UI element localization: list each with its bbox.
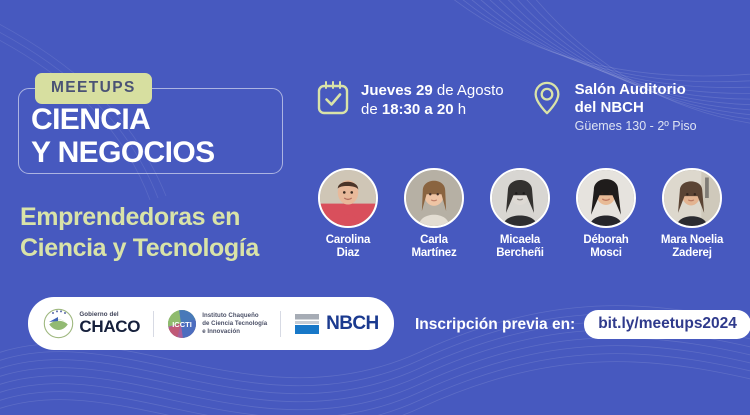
speaker-name-line-2: Martínez — [396, 247, 472, 260]
calendar-check-icon — [316, 80, 350, 116]
speaker-card: Déborah Mosci — [568, 168, 644, 260]
iccti-logo-text: Instituto Chaqueño de Ciencia Tecnología… — [202, 312, 267, 336]
speaker-name-line-2: Mosci — [568, 247, 644, 260]
nbch-emblem-icon — [294, 312, 321, 336]
speaker-name-line-2: Zaderej — [654, 247, 730, 260]
speaker-name: Carla Martínez — [396, 234, 472, 260]
event-date-line: Jueves 29 de Agosto — [361, 81, 504, 100]
logo-nbch: NBCH — [294, 312, 379, 336]
speakers-row: Carolina Diaz Carla Martínez — [310, 168, 730, 260]
event-time-bold: 18:30 a 20 — [382, 101, 454, 118]
event-time-suffix: h — [454, 101, 467, 118]
speaker-name: Micaela Bercheñi — [482, 234, 558, 260]
flyer-canvas: MEETUPS CIENCIA Y NEGOCIOS Emprendedoras… — [0, 0, 750, 415]
svg-text:ICCTI: ICCTI — [172, 320, 192, 329]
avatar — [318, 168, 378, 228]
subtitle: Emprendedoras en Ciencia y Tecnología — [20, 202, 259, 264]
meetups-badge: MEETUPS — [35, 73, 152, 104]
iccti-emblem-icon: ICCTI — [167, 309, 197, 339]
page-title: CIENCIA Y NEGOCIOS — [31, 103, 215, 169]
event-date-text: Jueves 29 de Agosto de 18:30 a 20 h — [361, 80, 504, 119]
logo-gobierno-chaco: Gobierno del CHACO — [43, 308, 140, 339]
event-date-bold: Jueves 29 — [361, 82, 433, 99]
signup-url-pill[interactable]: bit.ly/meetups2024 — [584, 310, 750, 339]
event-location-text: Salón Auditorio del NBCH Güemes 130 - 2º… — [575, 80, 697, 135]
chaco-emblem-icon — [43, 308, 74, 339]
iccti-line-3: e Innovación — [202, 328, 267, 336]
event-date-rest: de Agosto — [433, 82, 504, 99]
nbch-logo-text: NBCH — [326, 313, 379, 335]
title-line-2: Y NEGOCIOS — [31, 136, 215, 169]
speaker-card: Micaela Bercheñi — [482, 168, 558, 260]
avatar — [576, 168, 636, 228]
speaker-name-line-2: Bercheñi — [482, 247, 558, 260]
sponsor-logo-bar: Gobierno del CHACO ICCTI Instituto Chaqu… — [28, 297, 394, 350]
event-date-block: Jueves 29 de Agosto de 18:30 a 20 h — [316, 80, 504, 135]
speaker-name: Carolina Diaz — [310, 234, 386, 260]
event-time-line: de 18:30 a 20 h — [361, 100, 504, 119]
speaker-card: Carla Martínez — [396, 168, 472, 260]
logo-divider — [153, 311, 154, 337]
logo-iccti: ICCTI Instituto Chaqueño de Ciencia Tecn… — [167, 309, 267, 339]
iccti-line-2: de Ciencia Tecnología — [202, 320, 267, 328]
signup-label: Inscripción previa en: — [415, 316, 575, 334]
speaker-name-line-1: Carla — [396, 234, 472, 247]
event-time-prefix: de — [361, 101, 382, 118]
avatar — [490, 168, 550, 228]
speaker-name-line-1: Carolina — [310, 234, 386, 247]
speaker-name-line-2: Diaz — [310, 247, 386, 260]
speaker-name: Déborah Mosci — [568, 234, 644, 260]
map-pin-icon — [530, 80, 564, 116]
venue-line-2: del NBCH — [575, 99, 697, 117]
avatar — [662, 168, 722, 228]
speaker-card: Carolina Diaz — [310, 168, 386, 260]
venue-line-1: Salón Auditorio — [575, 81, 697, 99]
avatar — [404, 168, 464, 228]
speaker-name-line-1: Déborah — [568, 234, 644, 247]
speaker-name: Mara Noelia Zaderej — [654, 234, 730, 260]
title-line-1: CIENCIA — [31, 103, 215, 136]
speaker-card: Mara Noelia Zaderej — [654, 168, 730, 260]
iccti-line-1: Instituto Chaqueño — [202, 312, 267, 320]
event-info-row: Jueves 29 de Agosto de 18:30 a 20 h Saló… — [316, 80, 697, 135]
chaco-logo-large-text: CHACO — [79, 318, 140, 335]
subtitle-line-1: Emprendedoras en — [20, 202, 259, 233]
venue-address: Güemes 130 - 2º Piso — [575, 117, 697, 135]
event-location-block: Salón Auditorio del NBCH Güemes 130 - 2º… — [530, 80, 697, 135]
logo-divider — [280, 311, 281, 337]
speaker-name-line-1: Micaela — [482, 234, 558, 247]
subtitle-line-2: Ciencia y Tecnología — [20, 233, 259, 264]
signup-row: Inscripción previa en: bit.ly/meetups202… — [415, 310, 750, 339]
speaker-name-line-1: Mara Noelia — [654, 234, 730, 247]
